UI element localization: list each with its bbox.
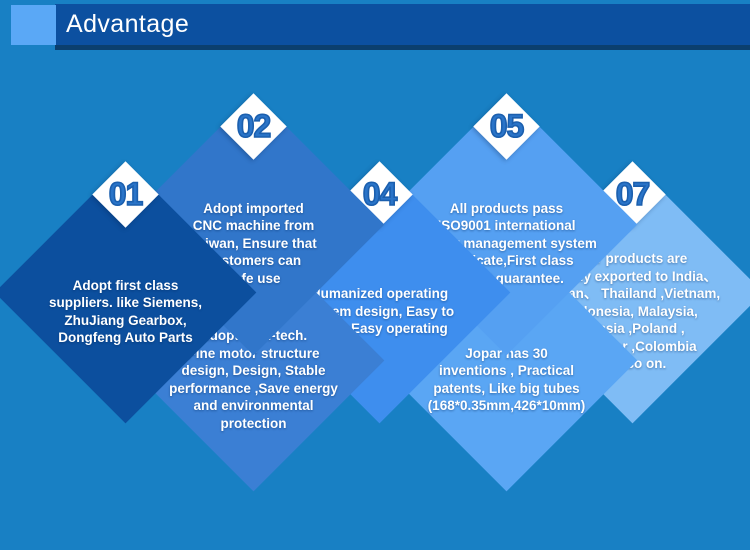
page-title: Advantage (66, 9, 189, 40)
number-badge-label: 02 (230, 103, 277, 150)
number-badge-label: 01 (102, 171, 149, 218)
number-badge-05: 05 (473, 93, 539, 159)
number-badge-02: 02 (220, 93, 286, 159)
number-badge-label: 05 (483, 103, 530, 150)
advantage-infographic: Our products are mainly exported to Indi… (0, 0, 750, 550)
header-bar-shadow (55, 45, 750, 50)
advantage-text-01: Adopt first class suppliers. like Siemen… (33, 238, 218, 346)
number-badge-01: 01 (92, 161, 158, 227)
header-accent-square (11, 5, 56, 45)
header: Advantage (0, 0, 750, 52)
